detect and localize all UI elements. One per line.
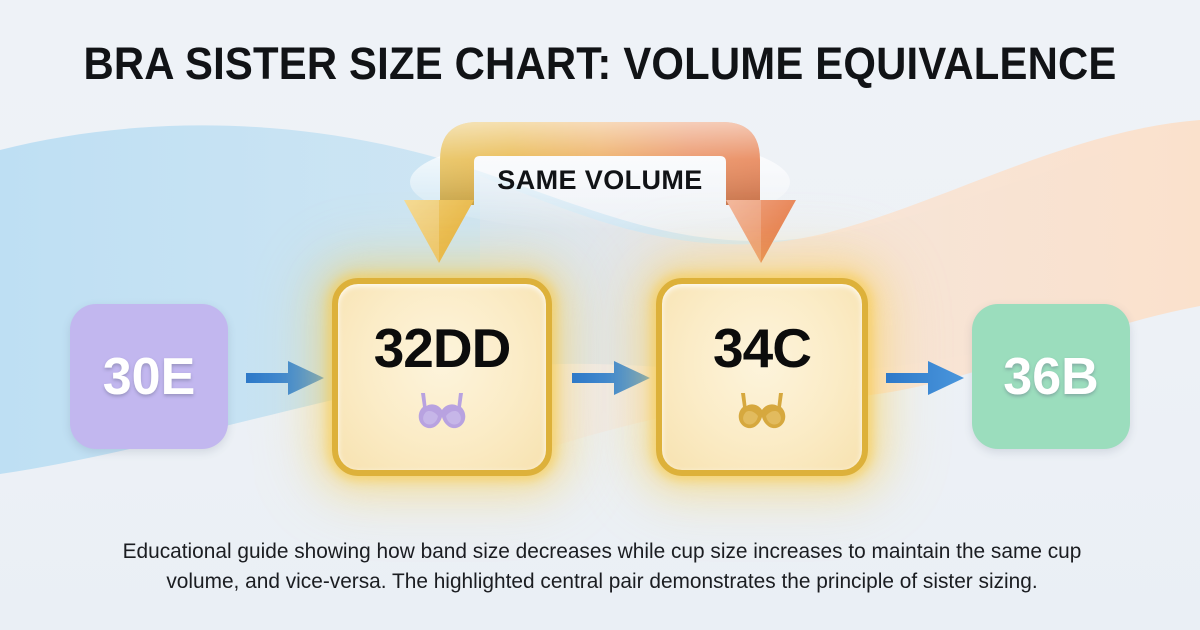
size-box-36b[interactable]: 36B xyxy=(972,304,1130,449)
size-flow-row: 30E 32DD xyxy=(0,272,1200,482)
page-title: BRA SISTER SIZE CHART: VOLUME EQUIVALENC… xyxy=(42,38,1158,90)
bra-icon-34c xyxy=(735,390,789,434)
size-box-32dd[interactable]: 32DD xyxy=(332,278,552,476)
size-label-36b: 36B xyxy=(1003,351,1098,403)
arrow-right-icon-3 xyxy=(886,360,964,396)
size-box-30e[interactable]: 30E xyxy=(70,304,228,449)
arrow-right-icon-1 xyxy=(246,360,324,396)
same-volume-label: SAME VOLUME xyxy=(462,165,738,196)
size-box-34c[interactable]: 34C xyxy=(656,278,868,476)
bra-icon-32dd xyxy=(415,390,469,434)
infographic-canvas: BRA SISTER SIZE CHART: VOLUME EQUIVALENC… xyxy=(0,0,1200,630)
size-label-32dd: 32DD xyxy=(374,321,511,376)
caption-text: Educational guide showing how band size … xyxy=(92,536,1112,596)
size-label-30e: 30E xyxy=(103,351,196,403)
arrow-right-icon-2 xyxy=(572,360,650,396)
size-label-34c: 34C xyxy=(713,321,811,376)
